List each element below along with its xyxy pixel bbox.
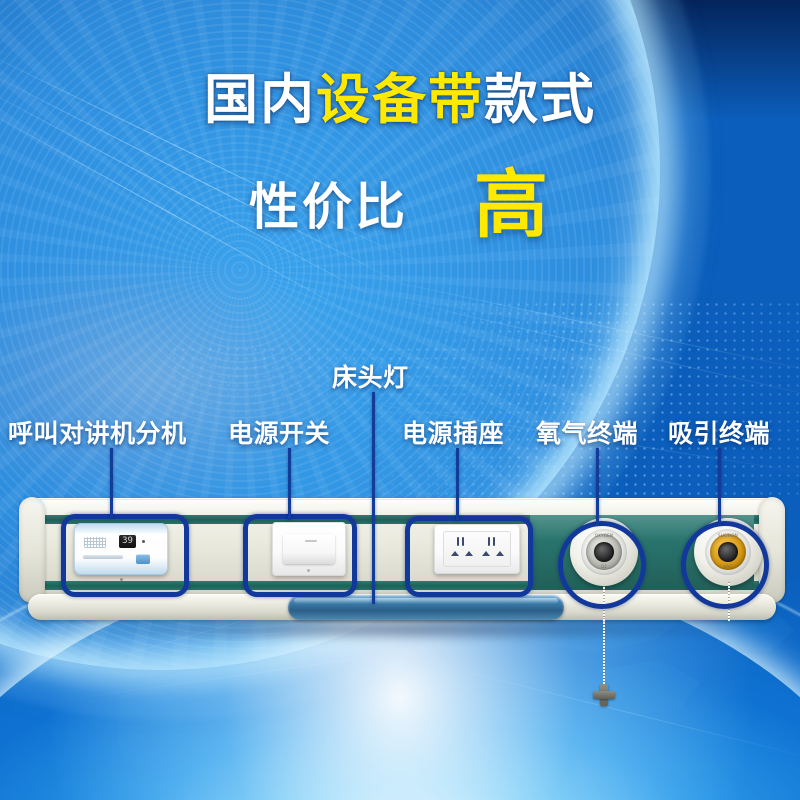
- leader-line-oxygen-terminal: [596, 448, 599, 526]
- callout-label-suction-terminal: 吸引终端: [668, 414, 770, 450]
- callout-label-intercom: 呼叫对讲机分机: [8, 414, 187, 450]
- callout-label-power-socket: 电源插座: [402, 414, 504, 450]
- leader-line-intercom: [110, 448, 113, 518]
- leader-line-power-socket: [456, 448, 459, 520]
- callout-label-bed-lamp: 床头灯: [332, 358, 409, 394]
- callout-layer: 呼叫对讲机分机 电源开关 床头灯 电源插座 氧气终端 吸引终端: [0, 0, 800, 800]
- leader-line-bed-lamp: [372, 392, 375, 604]
- product-banner: 国内设备带款式 性价比高 呼叫对讲机分机 电源开关 床头灯 电源插座 氧气终端 …: [0, 0, 800, 800]
- callout-label-oxygen-terminal: 氧气终端: [536, 414, 638, 450]
- callout-label-power-switch: 电源开关: [228, 414, 330, 450]
- leader-line-suction-terminal: [718, 448, 721, 526]
- leader-line-power-switch: [288, 448, 291, 520]
